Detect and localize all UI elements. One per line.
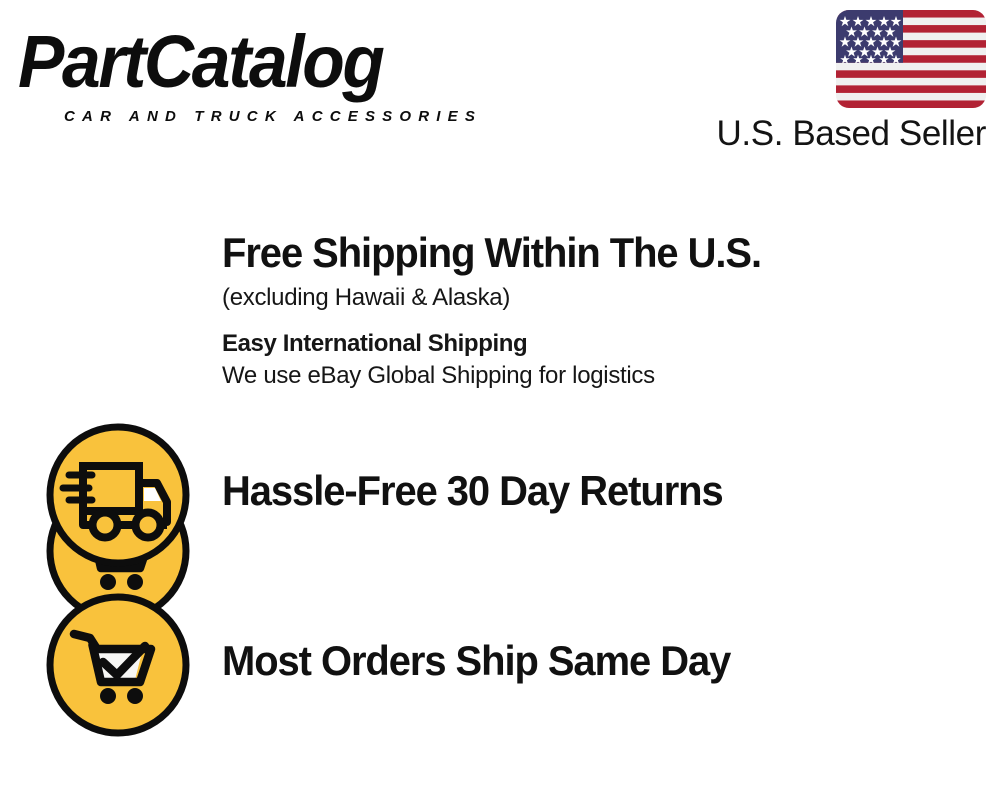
feature-international-detail: We use eBay Global Shipping for logistic… — [222, 360, 982, 392]
feature-heading: Most Orders Ship Same Day — [222, 636, 944, 686]
feature-returns-text: Hassle-Free 30 Day Returns — [222, 466, 982, 516]
us-based-seller-badge: U.S. Based Seller — [716, 10, 986, 154]
feature-international-heading: Easy International Shipping — [222, 328, 982, 360]
feature-heading: Hassle-Free 30 Day Returns — [222, 466, 944, 516]
brand-logo: PartCatalog CAR AND TRUCK ACCESSORIES — [18, 22, 498, 122]
us-flag-icon — [836, 10, 986, 108]
shopping-cart-check-icon — [45, 592, 191, 738]
promo-banner: PartCatalog CAR AND TRUCK ACCESSORIES — [0, 0, 1000, 800]
logo-tagline: CAR AND TRUCK ACCESSORIES — [64, 108, 482, 125]
delivery-truck-icon — [45, 422, 191, 568]
feature-exclusion-note: (excluding Hawaii & Alaska) — [222, 282, 982, 314]
feature-free-shipping-text: Free Shipping Within The U.S. (excluding… — [222, 228, 982, 392]
feature-heading: Free Shipping Within The U.S. — [222, 228, 944, 278]
us-based-seller-label: U.S. Based Seller — [716, 114, 986, 154]
feature-same-day-text: Most Orders Ship Same Day — [222, 636, 982, 686]
logo-wordmark: PartCatalog — [18, 22, 383, 102]
